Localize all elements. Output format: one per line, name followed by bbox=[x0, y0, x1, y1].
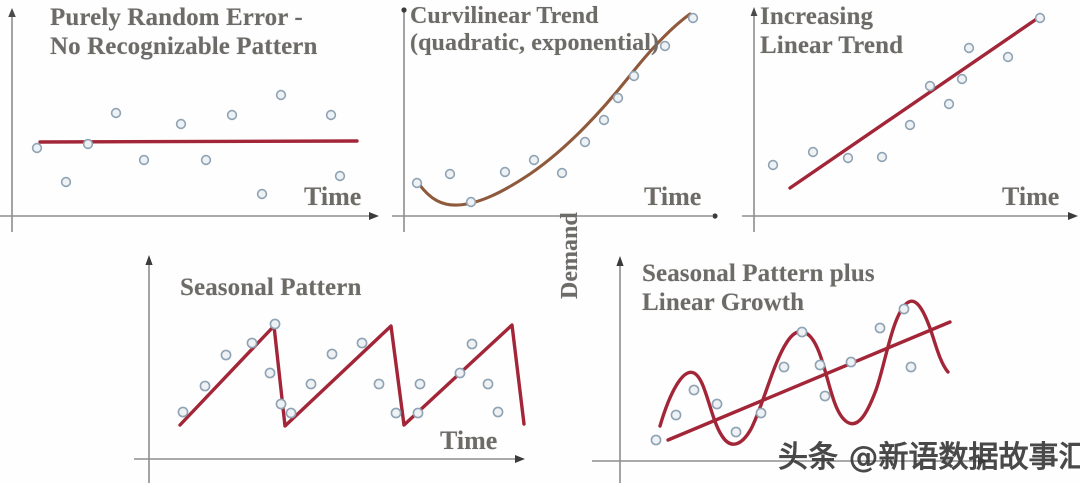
data-points bbox=[178, 319, 502, 417]
panel-4-title: Seasonal Pattern bbox=[180, 274, 361, 303]
panel-purely-random-error: Purely Random Error - No Recognizable Pa… bbox=[0, 0, 382, 232]
panel-2-x-axis-label: Time bbox=[644, 182, 701, 212]
panel-increasing-linear-trend: Increasing Linear Trend Time bbox=[738, 0, 1080, 232]
panel-3-x-axis-label: Time bbox=[1002, 182, 1059, 212]
panel-4-x-axis-label: Time bbox=[440, 426, 497, 456]
data-points bbox=[33, 91, 345, 199]
panel-seasonal-pattern: Seasonal Pattern Time bbox=[120, 232, 540, 483]
linear-growth-line bbox=[668, 322, 950, 440]
watermark: 头条 @新语数据故事汇 bbox=[778, 432, 1080, 476]
figure-canvas: Purely Random Error - No Recognizable Pa… bbox=[0, 0, 1080, 483]
panel-1-title: Purely Random Error - No Recognizable Pa… bbox=[50, 4, 318, 61]
data-points bbox=[651, 304, 915, 444]
panel-5-title: Seasonal Pattern plus Linear Growth bbox=[642, 260, 875, 317]
panel-1-x-axis-label: Time bbox=[304, 182, 361, 212]
panel-2-title: Curvilinear Trend (quadratic, exponentia… bbox=[410, 3, 659, 58]
panel-3-title: Increasing Linear Trend bbox=[760, 3, 903, 60]
panel-curvilinear-trend: Curvilinear Trend (quadratic, exponentia… bbox=[382, 0, 738, 232]
seasonal-wave-curve bbox=[660, 301, 948, 444]
panel-5-y-axis-label: Demand bbox=[557, 212, 584, 299]
